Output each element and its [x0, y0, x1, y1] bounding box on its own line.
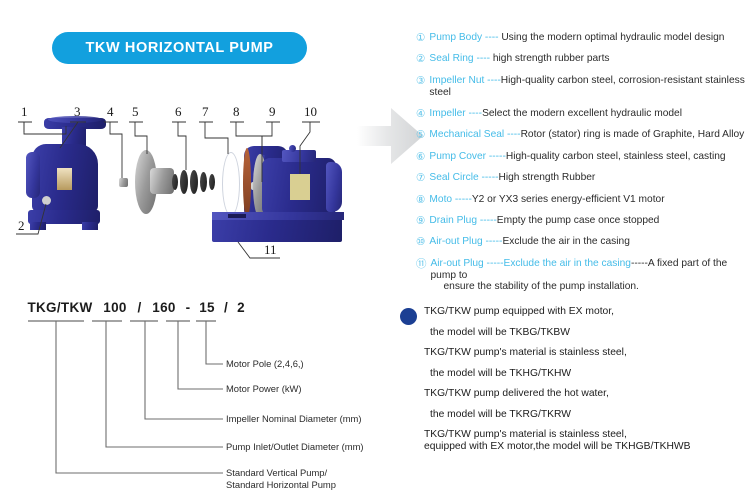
- note-line: the model will be TKRG/TKRW: [424, 409, 744, 420]
- legend-separator: ----: [482, 32, 501, 43]
- model-variant-notes: TKG/TKW pump equipped with EX motor, the…: [424, 306, 744, 462]
- legend-item: ⑧ Moto -----Y2 or YX3 series energy-effi…: [416, 194, 754, 206]
- legend-separator: -----: [479, 172, 499, 183]
- nomenclature-leader-lines: [18, 296, 398, 496]
- legend-description-cont: ensure the stability of the pump install…: [444, 281, 755, 293]
- page-title-banner: TKW HORIZONTAL PUMP: [52, 32, 307, 64]
- note-line: TKG/TKW pump's material is stainless ste…: [424, 429, 744, 440]
- legend-separator: ----: [504, 129, 520, 140]
- legend-separator: -----: [452, 194, 472, 205]
- legend-description: High-quality carbon steel, stainless ste…: [506, 151, 726, 162]
- nomen-label-motor-pole: Motor Pole (2,4,6,): [226, 358, 304, 371]
- legend-separator: ----: [466, 108, 482, 119]
- nomen-label-standard-type-1: Standard Vertical Pump/: [226, 467, 327, 480]
- legend-number-icon: ⑨: [416, 215, 425, 227]
- callout-9: 9: [269, 104, 276, 120]
- bullet-point-icon: [400, 308, 417, 325]
- nomen-label-impeller-dia: Impeller Nominal Diameter (mm): [226, 413, 361, 426]
- legend-description: Exclude the air in the casing: [502, 236, 629, 247]
- note-line: TKG/TKW pump's material is stainless ste…: [424, 347, 744, 358]
- legend-description: Select the modern excellent hydraulic mo…: [482, 108, 682, 119]
- legend-item: ② Seal Ring ---- high strength rubber pa…: [416, 53, 754, 65]
- legend-number-icon: ②: [416, 53, 425, 65]
- legend-part-name: Moto: [429, 194, 452, 205]
- legend-part-name: Mechanical Seal: [429, 129, 504, 140]
- legend-part-name: Seal Circle: [429, 172, 478, 183]
- legend-item: ④ Impeller ----Select the modern excelle…: [416, 108, 754, 120]
- legend-part-name: Pump Body: [429, 32, 482, 43]
- legend-number-icon: ⑥: [416, 151, 425, 163]
- right-arrow-icon: [357, 100, 425, 172]
- legend-item: ⑥ Pump Cover -----High-quality carbon st…: [416, 151, 754, 163]
- legend-number-icon: ⑧: [416, 194, 425, 206]
- legend-number-icon: ⑤: [416, 129, 425, 141]
- legend-item: ⑪ Air-out Plug -----Exclude the air in t…: [416, 258, 754, 293]
- callout-6: 6: [175, 104, 182, 120]
- note-line: the model will be TKHG/TKHW: [424, 368, 744, 379]
- legend-part-name: Seal Ring: [429, 53, 473, 64]
- legend-number-icon: ⑩: [416, 236, 425, 248]
- nomen-label-standard-type-2: Standard Horizontal Pump: [226, 479, 336, 492]
- page-title: TKW HORIZONTAL PUMP: [85, 40, 273, 56]
- nomen-label-motor-power: Motor Power (kW): [226, 383, 302, 396]
- legend-number-icon: ④: [416, 108, 425, 120]
- callout-10: 10: [304, 104, 317, 120]
- legend-number-icon: ③: [416, 75, 425, 87]
- legend-description: high strength rubber parts: [493, 53, 610, 64]
- legend-item: ⑦ Seal Circle -----High strength Rubber: [416, 172, 754, 184]
- legend-separator: -----: [483, 236, 503, 247]
- note-line: TKG/TKW pump delivered the hot water,: [424, 388, 744, 399]
- callout-2: 2: [18, 218, 25, 234]
- legend-item: ⑩ Air-out Plug -----Exclude the air in t…: [416, 236, 754, 248]
- note-line: TKG/TKW pump equipped with EX motor,: [424, 306, 744, 317]
- legend-separator: -----: [477, 215, 497, 226]
- callout-leader-lines: [0, 96, 400, 296]
- nomen-label-inlet-outlet: Pump Inlet/Outlet Diameter (mm): [226, 441, 364, 454]
- legend-description: Empty the pump case once stopped: [497, 215, 660, 226]
- callout-5: 5: [132, 104, 139, 120]
- legend-number-icon: ⑦: [416, 172, 425, 184]
- legend-description: Rotor (stator) ring is made of Graphite,…: [521, 129, 745, 140]
- callout-1: 1: [21, 104, 28, 120]
- callout-7: 7: [202, 104, 209, 120]
- parts-legend-list: ① Pump Body ---- Using the modern optima…: [416, 32, 754, 302]
- legend-item: ⑨ Drain Plug -----Empty the pump case on…: [416, 215, 754, 227]
- legend-description: High strength Rubber: [498, 172, 595, 183]
- legend-separator: ----: [474, 53, 493, 64]
- legend-separator: ----: [484, 75, 500, 86]
- legend-part-name: Air-out Plug -----Exclude the air in the…: [431, 258, 631, 269]
- legend-number-icon: ①: [416, 32, 425, 44]
- legend-description: Y2 or YX3 series energy-efficient V1 mot…: [472, 194, 665, 205]
- legend-description: Using the modern optimal hydraulic model…: [501, 32, 724, 43]
- legend-item: ⑤ Mechanical Seal ----Rotor (stator) rin…: [416, 129, 754, 141]
- legend-separator: -----: [486, 151, 506, 162]
- legend-item: ③ Impeller Nut ----High-quality carbon s…: [416, 75, 754, 98]
- note-line: equipped with EX motor,the model will be…: [424, 441, 744, 452]
- legend-separator: -----: [631, 258, 648, 269]
- legend-part-name: Drain Plug: [429, 215, 477, 226]
- legend-part-name: Impeller Nut: [429, 75, 484, 86]
- legend-part-name: Air-out Plug: [429, 236, 482, 247]
- exploded-pump-diagram: 1 3 4 5 6 7 8 9 10 2 11: [0, 96, 400, 296]
- callout-11: 11: [264, 242, 277, 258]
- legend-part-name: Pump Cover: [429, 151, 486, 162]
- callout-4: 4: [107, 104, 114, 120]
- note-line: the model will be TKBG/TKBW: [424, 327, 744, 338]
- legend-number-icon: ⑪: [416, 258, 427, 270]
- model-nomenclature-diagram: TKG/TKW 100 / 160 - 15 / 2 Motor Pole (2…: [18, 296, 398, 496]
- callout-3: 3: [74, 104, 81, 120]
- callout-8: 8: [233, 104, 240, 120]
- legend-item: ① Pump Body ---- Using the modern optima…: [416, 32, 754, 44]
- legend-part-name: Impeller: [429, 108, 465, 119]
